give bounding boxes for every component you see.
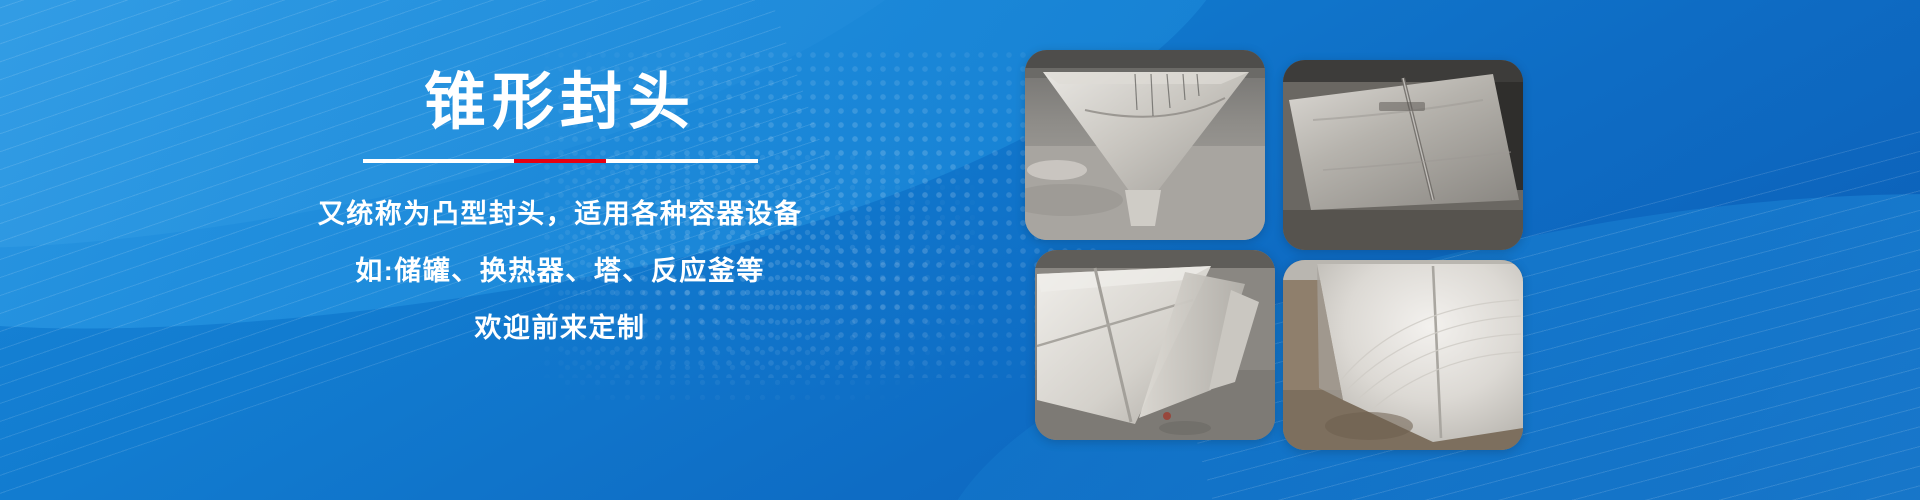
product-photo-collage: LT 力拓封头 [1025,50,1525,460]
subtitle-line-3: 欢迎前来定制 [280,315,840,342]
title-divider-accent [514,159,606,163]
title-divider [363,159,758,163]
subtitle-line-1: 又统称为凸型封头，适用各种容器设备 [280,201,840,228]
promo-banner: 锥形封头 又统称为凸型封头，适用各种容器设备 如:储罐、换热器、塔、反应釜等 欢… [0,0,1920,500]
product-photo-3 [1035,250,1275,440]
product-photo-1 [1025,50,1265,240]
copy-block: 锥形封头 又统称为凸型封头，适用各种容器设备 如:储罐、换热器、塔、反应釜等 欢… [280,70,840,342]
subtitle-group: 又统称为凸型封头，适用各种容器设备 如:储罐、换热器、塔、反应釜等 欢迎前来定制 [280,201,840,342]
product-photo-2 [1283,60,1523,250]
subtitle-line-2: 如:储罐、换热器、塔、反应釜等 [280,258,840,285]
product-photo-4 [1283,260,1523,450]
page-title: 锥形封头 [280,70,840,135]
